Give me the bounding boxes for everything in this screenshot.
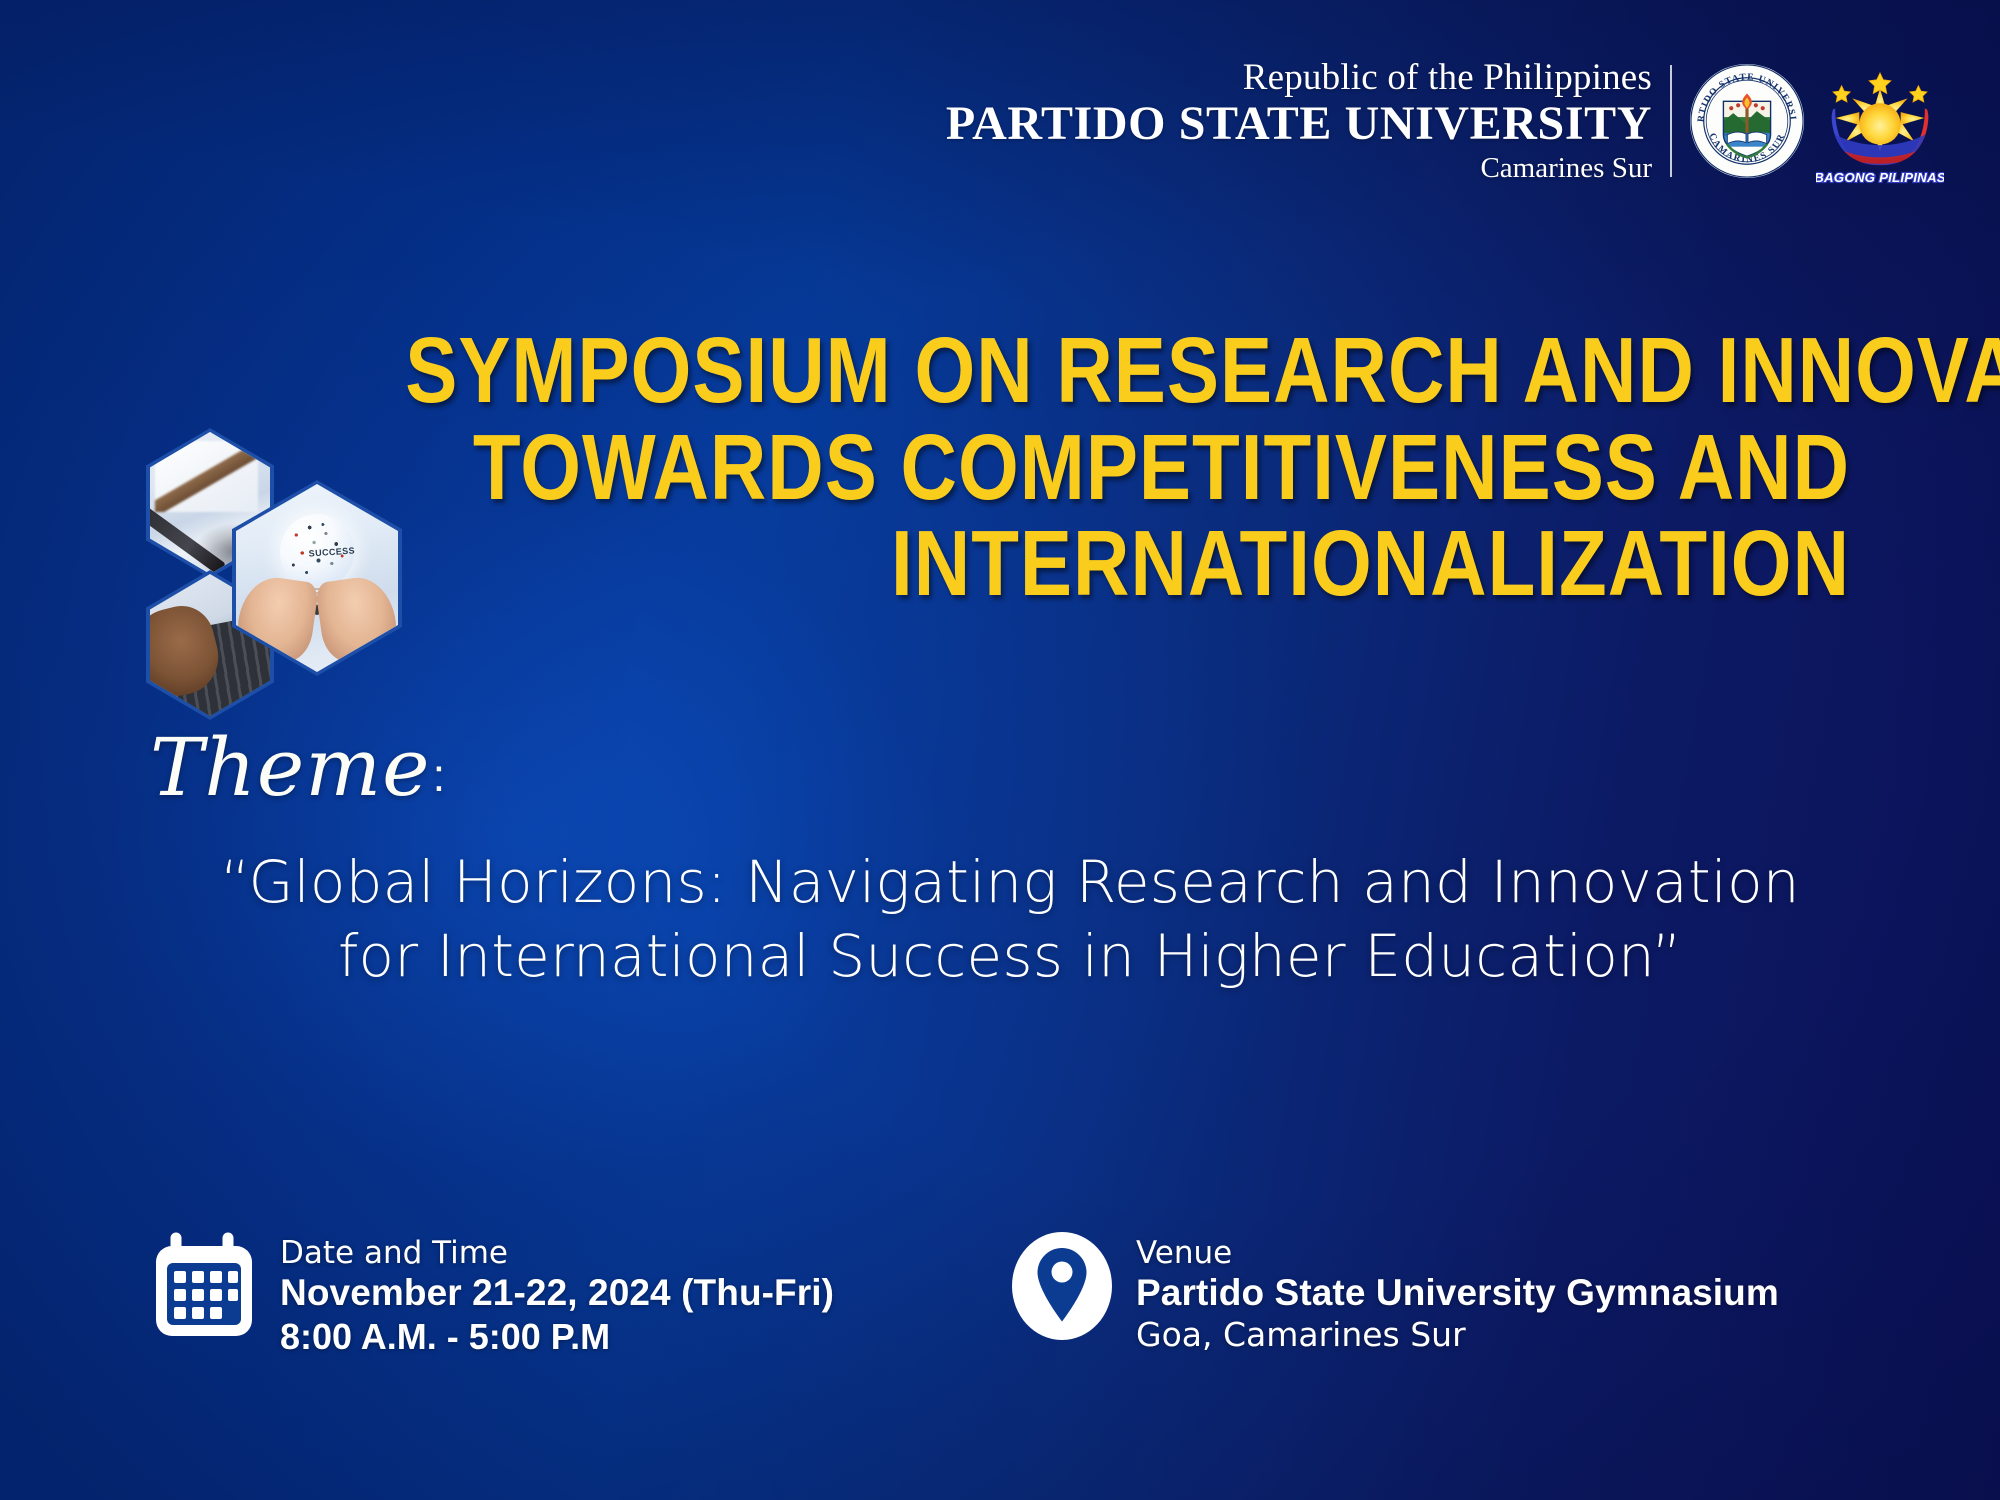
header-divider	[1670, 65, 1672, 177]
date-value: November 21-22, 2024 (Thu-Fri)	[280, 1271, 834, 1315]
date-text-group: Date and Time November 21-22, 2024 (Thu-…	[280, 1230, 834, 1358]
theme-quote-line-2: for International Success in Higher Educ…	[140, 919, 1880, 993]
poster-footer: Date and Time November 21-22, 2024 (Thu-…	[150, 1230, 1910, 1358]
time-value: 8:00 A.M. - 5:00 P.M	[280, 1315, 834, 1358]
poster-header: Republic of the Philippines PARTIDO STAT…	[946, 55, 1944, 187]
event-poster: Republic of the Philippines PARTIDO STAT…	[0, 0, 2000, 1500]
theme-quote: “Global Horizons: Navigating Research an…	[140, 845, 1880, 993]
calendar-icon	[150, 1230, 258, 1342]
title-line-2: TOWARDS COMPETITIVENESS AND	[405, 419, 1850, 516]
bagong-pilipinas-caption: BAGONG PILIPINAS	[1816, 170, 1944, 185]
republic-line: Republic of the Philippines	[946, 59, 1652, 97]
university-name: PARTIDO STATE UNIVERSITY	[946, 99, 1652, 149]
hexagon-photo-cluster: SUCCESS	[140, 420, 450, 720]
calendar-icon-wrap	[150, 1230, 258, 1347]
date-label: Date and Time	[280, 1236, 834, 1271]
theme-label-group: Theme:	[150, 728, 446, 808]
venue-block: Venue Partido State University Gymnasium…	[1010, 1230, 1779, 1355]
venue-value: Partido State University Gymnasium	[1136, 1271, 1779, 1315]
title-line-3: INTERNATIONALIZATION	[405, 515, 1850, 612]
poster-title: SYMPOSIUM ON RESEARCH AND INNOVATION TOW…	[405, 322, 1850, 612]
venue-address: Goa, Camarines Sur	[1136, 1315, 1779, 1355]
province-line: Camarines Sur	[946, 153, 1652, 183]
theme-quote-line-1: “Global Horizons: Navigating Research an…	[140, 845, 1880, 919]
bagong-pilipinas-logo: BAGONG PILIPINAS	[1816, 55, 1944, 187]
venue-label: Venue	[1136, 1236, 1779, 1271]
title-line-1: SYMPOSIUM ON RESEARCH AND INNOVATION	[405, 322, 1850, 419]
venue-text-group: Venue Partido State University Gymnasium…	[1136, 1230, 1779, 1355]
map-pin-icon-wrap	[1010, 1230, 1114, 1347]
header-institution-text: Republic of the Philippines PARTIDO STAT…	[946, 59, 1670, 184]
theme-label: Theme	[150, 721, 430, 814]
map-pin-icon	[1010, 1230, 1114, 1342]
theme-colon: :	[432, 749, 446, 801]
psu-seal-icon: PARTIDO STATE UNIVERSITY CAMARINES SUR	[1688, 62, 1806, 180]
date-and-time-block: Date and Time November 21-22, 2024 (Thu-…	[150, 1230, 1010, 1358]
